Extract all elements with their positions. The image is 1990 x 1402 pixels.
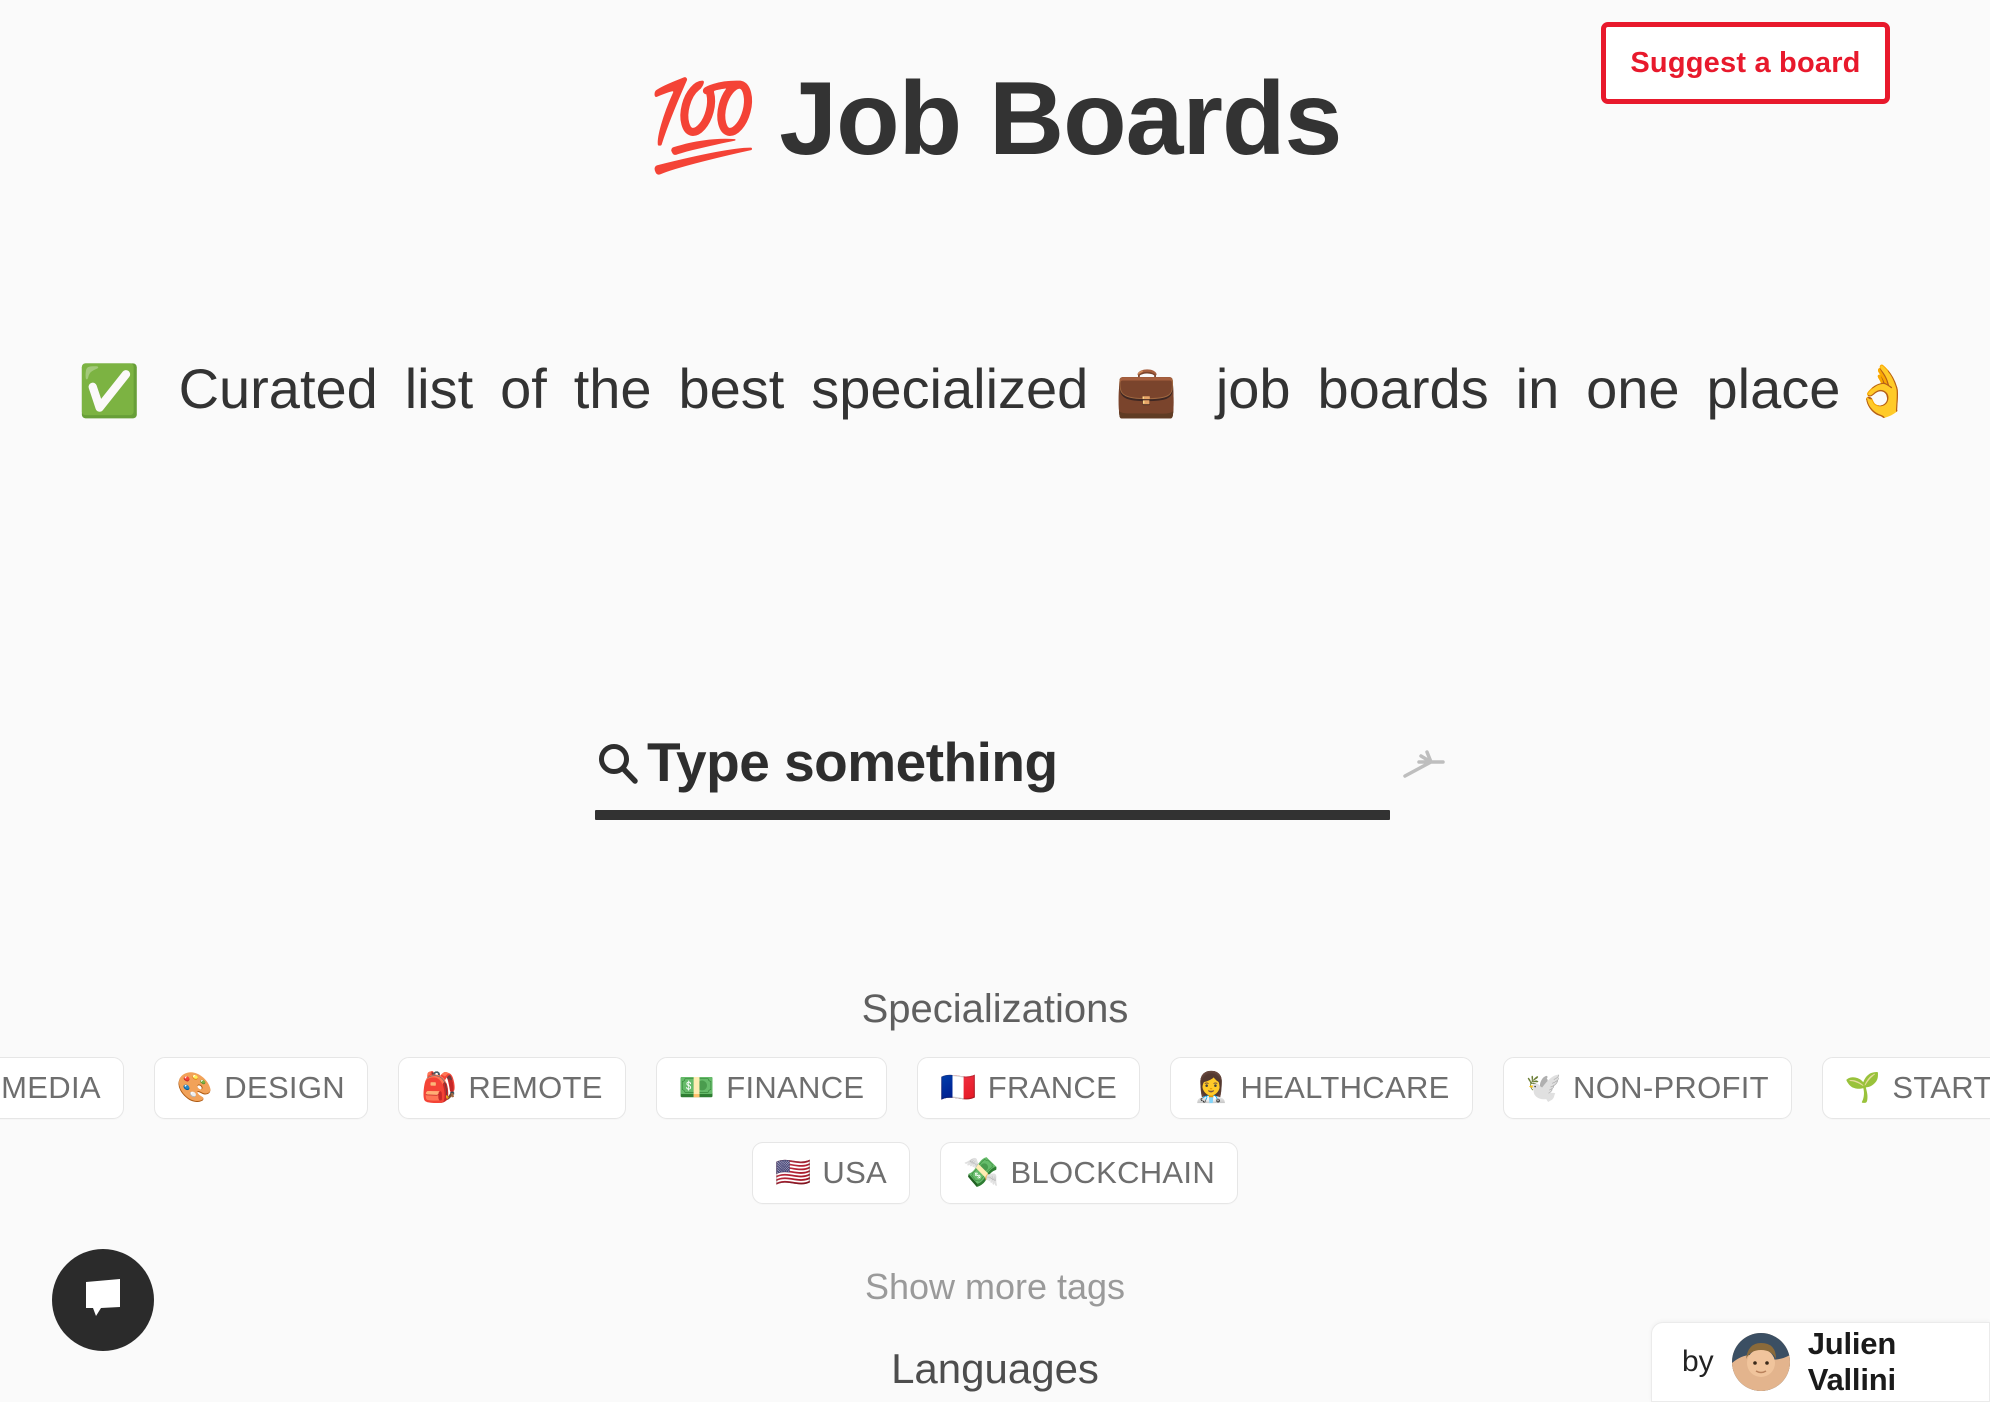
tag-chip-france[interactable]: 🇫🇷 FRANCE (917, 1057, 1140, 1119)
search-icon (595, 741, 641, 787)
tag-chip-blockchain[interactable]: 💸 BLOCKCHAIN (940, 1142, 1238, 1204)
tag-row: 📰 MEDIA 🎨 DESIGN 🎒 REMOTE 💵 FINANCE 🇫🇷 F… (0, 1057, 1990, 1119)
search-area (595, 726, 1390, 820)
hundred-points-icon: 💯 (649, 76, 758, 175)
specializations-heading: Specializations (0, 987, 1990, 1032)
tag-label: USA (822, 1155, 887, 1191)
author-by-label: by (1682, 1345, 1714, 1379)
tag-label: HEALTHCARE (1240, 1070, 1449, 1106)
tag-label: STARTUP (1892, 1070, 1990, 1106)
tag-row: 🇺🇸 USA 💸 BLOCKCHAIN (0, 1142, 1990, 1204)
chat-bubble-icon (79, 1274, 127, 1327)
search-input[interactable] (647, 727, 1391, 797)
palette-icon: 🎨 (177, 1074, 213, 1103)
tag-label: BLOCKCHAIN (1010, 1155, 1215, 1191)
tag-chip-design[interactable]: 🎨 DESIGN (154, 1057, 368, 1119)
tag-label: MEDIA (1, 1070, 101, 1106)
money-with-wings-icon: 💸 (963, 1159, 999, 1188)
show-more-tags-link[interactable]: Show more tags (0, 1266, 1990, 1308)
tag-chip-healthcare[interactable]: 👩‍⚕️ HEALTHCARE (1170, 1057, 1473, 1119)
tag-label: DESIGN (224, 1070, 345, 1106)
briefcase-icon: 💼 (1115, 363, 1189, 419)
description-part-2: job boards in one place (1216, 357, 1841, 420)
dove-icon: 🕊️ (1526, 1074, 1562, 1103)
health-worker-icon: 👩‍⚕️ (1193, 1074, 1229, 1103)
tag-label: FINANCE (726, 1070, 864, 1106)
tag-chip-media[interactable]: 📰 MEDIA (0, 1057, 124, 1119)
avatar (1732, 1333, 1790, 1391)
page-title: 💯Job Boards (0, 60, 1990, 180)
tag-chip-usa[interactable]: 🇺🇸 USA (752, 1142, 910, 1204)
banknote-icon: 💵 (679, 1074, 715, 1103)
page-title-text: Job Boards (779, 61, 1341, 177)
tag-label: FRANCE (988, 1070, 1117, 1106)
backpack-icon: 🎒 (421, 1074, 457, 1103)
description-part-1: Curated list of the best specialized (179, 357, 1089, 420)
search-row (595, 726, 1390, 798)
tag-label: REMOTE (468, 1070, 602, 1106)
check-mark-icon: ✅ (78, 363, 152, 419)
tag-chip-finance[interactable]: 💵 FINANCE (656, 1057, 888, 1119)
author-badge[interactable]: by Julien Vallini (1651, 1322, 1990, 1402)
flag-france-icon: 🇫🇷 (940, 1074, 976, 1103)
author-name: Julien Vallini (1808, 1326, 1989, 1398)
enter-arrow-icon[interactable] (1401, 742, 1447, 782)
specializations-tag-list: 📰 MEDIA 🎨 DESIGN 🎒 REMOTE 💵 FINANCE 🇫🇷 F… (0, 1057, 1990, 1227)
page-description: ✅ Curated list of the best specialized 💼… (78, 356, 1914, 488)
tag-chip-startup[interactable]: 🌱 STARTUP (1822, 1057, 1990, 1119)
tag-chip-non-profit[interactable]: 🕊️ NON-PROFIT (1503, 1057, 1792, 1119)
tag-label: NON-PROFIT (1573, 1070, 1769, 1106)
flag-usa-icon: 🇺🇸 (775, 1159, 811, 1188)
ok-hand-icon: 👌 (1840, 363, 1914, 419)
tag-chip-remote[interactable]: 🎒 REMOTE (398, 1057, 626, 1119)
chat-widget-button[interactable] (52, 1249, 154, 1351)
search-underline (595, 810, 1390, 820)
seedling-icon: 🌱 (1845, 1074, 1881, 1103)
